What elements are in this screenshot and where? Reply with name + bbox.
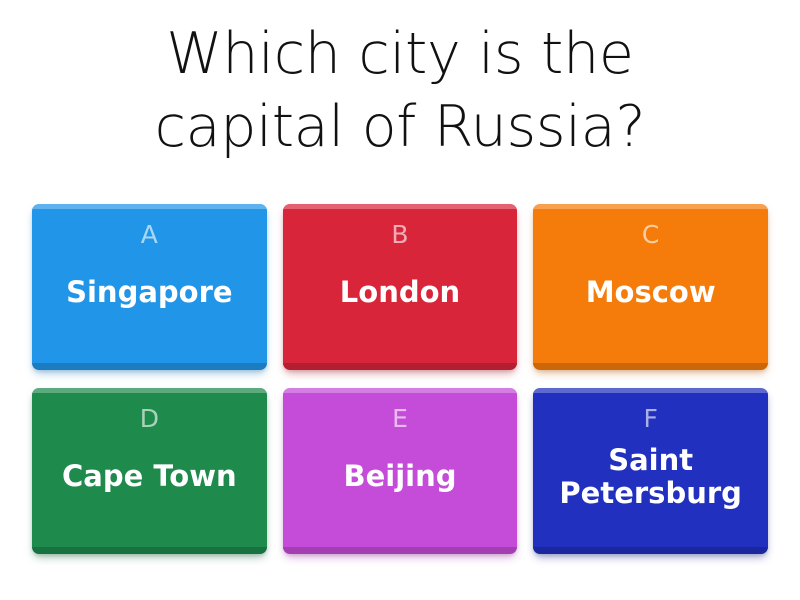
answer-label-d: Cape Town: [44, 431, 255, 540]
quiz-container: Which city is the capital of Russia? A S…: [0, 0, 800, 600]
answer-card-e[interactable]: E Beijing: [283, 388, 518, 554]
answer-card-c[interactable]: C Moscow: [533, 204, 768, 370]
answer-label-a: Singapore: [44, 247, 255, 356]
question-text: Which city is the capital of Russia?: [50, 18, 750, 164]
answer-label-e: Beijing: [295, 431, 506, 540]
answer-options-grid: A Singapore B London C Moscow D Cape Tow…: [32, 204, 768, 554]
answer-card-d[interactable]: D Cape Town: [32, 388, 267, 554]
answer-label-c: Moscow: [545, 247, 756, 356]
answer-letter-b: B: [391, 222, 408, 247]
answer-letter-d: D: [140, 406, 159, 431]
answer-label-b: London: [295, 247, 506, 356]
answer-letter-f: F: [643, 406, 657, 431]
answer-label-f: Saint Petersburg: [545, 431, 756, 540]
answer-card-f[interactable]: F Saint Petersburg: [533, 388, 768, 554]
answer-card-b[interactable]: B London: [283, 204, 518, 370]
answer-letter-e: E: [392, 406, 408, 431]
answer-letter-c: C: [642, 222, 659, 247]
answer-card-a[interactable]: A Singapore: [32, 204, 267, 370]
answer-letter-a: A: [141, 222, 158, 247]
